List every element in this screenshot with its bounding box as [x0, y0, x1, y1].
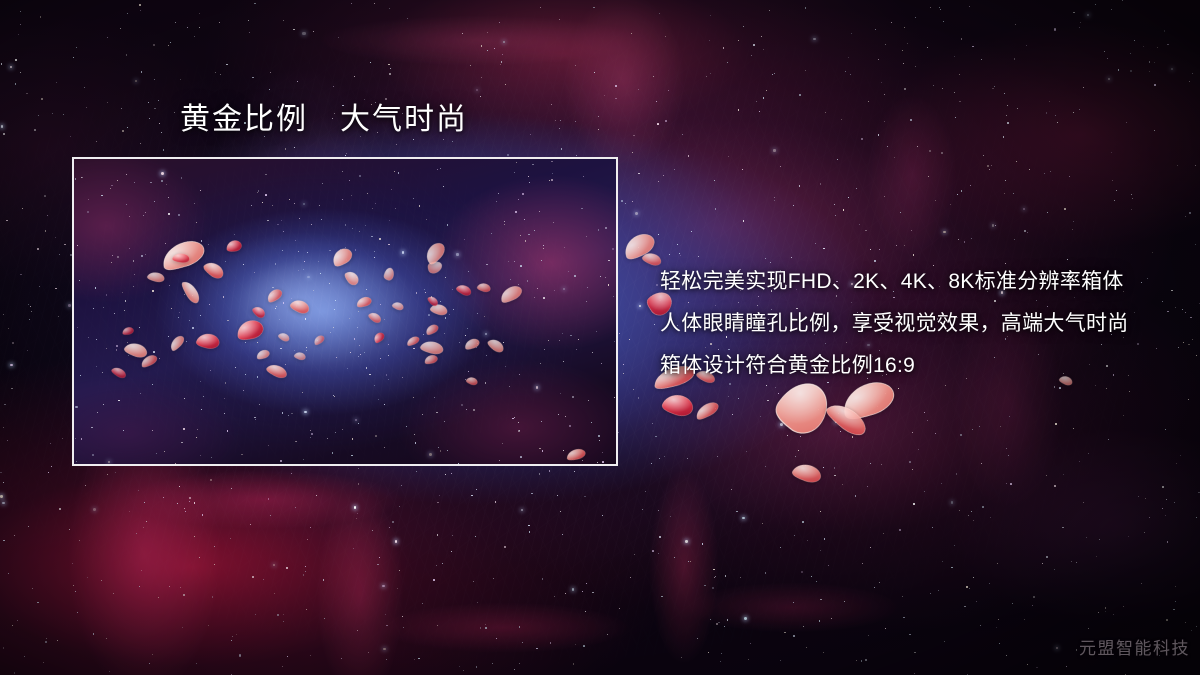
star — [107, 37, 108, 38]
star — [127, 127, 128, 128]
star — [795, 456, 796, 457]
star — [1166, 499, 1167, 500]
star — [15, 83, 16, 84]
star — [856, 660, 857, 661]
star — [68, 304, 71, 307]
star — [899, 529, 900, 530]
star — [803, 626, 804, 627]
star — [480, 96, 481, 97]
star — [437, 502, 438, 503]
star — [122, 130, 124, 132]
star — [954, 92, 955, 93]
star — [884, 196, 885, 197]
star — [4, 404, 5, 405]
star — [970, 185, 971, 186]
star — [10, 364, 13, 367]
star — [358, 468, 359, 469]
star — [1, 63, 2, 64]
star — [1183, 342, 1184, 343]
star — [184, 508, 185, 509]
star — [153, 44, 155, 46]
star — [1064, 208, 1066, 210]
star — [43, 662, 44, 663]
star — [903, 63, 904, 64]
star — [989, 169, 990, 170]
star — [499, 22, 500, 23]
star — [912, 469, 913, 470]
star — [1162, 486, 1163, 487]
star — [805, 70, 806, 71]
star — [20, 24, 21, 25]
star — [727, 62, 728, 63]
star — [62, 438, 63, 439]
star — [503, 41, 506, 44]
star — [379, 557, 380, 558]
star — [536, 648, 537, 649]
star — [762, 523, 763, 524]
star — [710, 73, 711, 74]
star — [12, 625, 13, 626]
star — [1190, 317, 1191, 318]
star — [714, 577, 715, 578]
star — [623, 373, 624, 374]
star — [392, 521, 393, 522]
star — [146, 521, 147, 522]
star — [38, 115, 39, 116]
star — [1131, 209, 1132, 210]
star — [459, 666, 460, 667]
star — [41, 98, 42, 99]
star — [3, 647, 4, 648]
star — [1114, 200, 1115, 201]
star — [659, 458, 660, 459]
star — [1083, 502, 1084, 503]
star — [550, 642, 551, 643]
star — [657, 123, 659, 125]
star — [383, 648, 385, 650]
star — [451, 551, 452, 552]
star — [1005, 180, 1006, 181]
star — [141, 71, 142, 72]
star — [407, 18, 408, 19]
star — [57, 640, 58, 641]
star — [835, 421, 837, 423]
star — [77, 612, 78, 613]
star — [900, 212, 901, 213]
star — [917, 146, 918, 147]
star — [690, 561, 691, 562]
star — [1055, 423, 1056, 424]
star — [179, 486, 180, 487]
star — [1006, 483, 1007, 484]
star — [307, 539, 308, 540]
star — [2, 502, 4, 504]
star — [629, 339, 630, 340]
star — [169, 586, 170, 587]
star — [28, 526, 29, 527]
star — [385, 614, 386, 615]
star — [1175, 601, 1176, 602]
star — [877, 406, 878, 407]
star — [1149, 71, 1150, 72]
star — [389, 527, 390, 528]
star — [800, 436, 801, 437]
star — [554, 596, 555, 597]
star — [1149, 517, 1150, 518]
star — [462, 33, 463, 34]
star — [494, 48, 495, 49]
star — [530, 134, 531, 135]
star — [1088, 628, 1089, 629]
star — [388, 64, 390, 66]
star — [562, 534, 563, 535]
star — [37, 248, 39, 250]
star — [990, 517, 991, 518]
star — [481, 45, 483, 47]
star — [740, 577, 741, 578]
star — [30, 306, 31, 307]
star — [254, 3, 255, 4]
star — [386, 625, 387, 626]
star — [868, 101, 869, 102]
star — [346, 153, 347, 154]
star — [774, 197, 775, 198]
star — [961, 38, 962, 39]
star — [84, 87, 85, 88]
star — [709, 40, 710, 41]
star — [859, 224, 860, 225]
star — [708, 652, 709, 653]
star — [1138, 496, 1139, 497]
star — [868, 635, 869, 636]
star — [11, 388, 12, 389]
star — [1113, 614, 1114, 615]
star — [1111, 152, 1112, 153]
star — [1134, 40, 1135, 41]
star — [0, 472, 1, 473]
star — [414, 659, 415, 660]
star — [602, 515, 603, 516]
star — [389, 8, 390, 9]
star — [542, 578, 543, 579]
star — [744, 617, 747, 620]
star — [638, 397, 639, 398]
star — [48, 472, 49, 473]
star — [236, 634, 237, 635]
star — [763, 97, 765, 99]
star — [1006, 655, 1007, 656]
star — [3, 540, 4, 541]
star — [969, 6, 970, 7]
star — [879, 582, 880, 583]
star — [918, 449, 919, 450]
star — [802, 521, 804, 523]
star — [645, 491, 646, 492]
star — [983, 155, 984, 156]
star — [658, 234, 659, 235]
star — [63, 114, 64, 115]
star — [593, 7, 595, 9]
star — [231, 488, 232, 489]
star — [583, 645, 585, 647]
star — [403, 627, 404, 628]
star — [1098, 612, 1099, 613]
star — [413, 139, 414, 140]
star — [979, 426, 980, 427]
star — [250, 524, 251, 525]
star — [995, 225, 996, 226]
star — [767, 400, 768, 401]
star — [656, 101, 657, 102]
star — [715, 208, 716, 209]
star — [909, 634, 910, 635]
star — [158, 597, 159, 598]
star — [39, 286, 40, 287]
star — [140, 10, 141, 11]
star — [1177, 165, 1178, 166]
star — [907, 43, 908, 44]
star — [50, 443, 51, 444]
star — [964, 241, 966, 243]
star — [436, 565, 437, 566]
star — [704, 585, 705, 586]
star — [149, 663, 150, 664]
star — [884, 121, 885, 122]
star — [1079, 27, 1080, 28]
star — [501, 61, 502, 62]
star — [594, 72, 595, 73]
star — [973, 520, 974, 521]
star — [743, 220, 744, 221]
star — [731, 489, 732, 490]
star — [1057, 122, 1058, 123]
star — [263, 579, 264, 580]
star — [52, 113, 53, 114]
star — [364, 99, 365, 100]
star — [874, 587, 875, 588]
star — [1106, 388, 1107, 389]
star — [199, 557, 200, 558]
star — [718, 622, 719, 623]
star — [855, 495, 856, 496]
star — [685, 540, 687, 542]
star — [586, 583, 587, 584]
star — [639, 305, 641, 307]
star — [914, 652, 915, 653]
star — [746, 451, 747, 452]
star — [969, 588, 970, 589]
star — [738, 109, 739, 110]
star — [774, 73, 775, 74]
star — [976, 601, 977, 602]
star — [120, 28, 121, 29]
star — [93, 508, 96, 511]
star — [951, 567, 952, 568]
star — [774, 200, 775, 201]
star — [913, 254, 914, 255]
star — [773, 149, 775, 151]
star — [252, 576, 254, 578]
panel-nebula-wisps — [74, 159, 616, 464]
star — [442, 563, 443, 564]
star — [759, 111, 760, 112]
star — [680, 255, 681, 256]
petal — [692, 398, 721, 422]
star — [654, 324, 655, 325]
star — [382, 585, 384, 587]
petal — [660, 390, 696, 419]
star — [1164, 30, 1166, 32]
star — [840, 431, 841, 432]
star — [966, 586, 967, 587]
star — [286, 567, 287, 568]
star — [189, 501, 190, 502]
star — [37, 602, 39, 604]
star — [522, 642, 523, 643]
star — [1062, 527, 1063, 528]
star — [680, 396, 681, 397]
star — [69, 529, 70, 530]
star — [1105, 607, 1106, 608]
star — [787, 435, 788, 436]
star — [738, 40, 739, 41]
description-line-2: 人体眼睛瞳孔比例，享受视觉效果，高端大气时尚 — [660, 303, 1180, 345]
star — [163, 149, 164, 150]
star — [385, 98, 387, 100]
star — [659, 13, 660, 14]
star — [1198, 492, 1199, 493]
star — [799, 185, 800, 186]
star — [28, 304, 29, 305]
star — [1069, 176, 1070, 177]
star — [0, 495, 2, 497]
star — [51, 466, 52, 467]
star — [390, 68, 391, 69]
feature-description: 轻松完美实现FHD、2K、4K、8K标准分辨率箱体 人体眼睛瞳孔比例，享受视觉效… — [660, 261, 1180, 387]
star — [214, 546, 215, 547]
star — [1132, 198, 1133, 199]
star — [1007, 105, 1008, 106]
star — [519, 626, 521, 628]
star — [557, 495, 558, 496]
star — [818, 409, 819, 410]
star — [852, 436, 854, 438]
star — [638, 173, 639, 174]
star — [784, 632, 785, 633]
star — [40, 16, 41, 17]
star — [401, 485, 402, 486]
star — [3, 314, 4, 315]
star — [669, 254, 670, 255]
star — [766, 90, 767, 91]
star — [370, 62, 371, 63]
star — [811, 576, 812, 577]
star — [632, 152, 633, 153]
star — [199, 27, 200, 28]
star — [1107, 58, 1108, 59]
star — [27, 350, 28, 351]
star — [801, 571, 803, 573]
star — [912, 432, 913, 433]
star — [437, 625, 438, 626]
star — [177, 503, 178, 504]
star — [140, 143, 141, 144]
star — [879, 249, 880, 250]
star — [374, 3, 375, 4]
star — [761, 36, 762, 37]
star — [862, 563, 863, 564]
star — [1076, 562, 1077, 563]
star — [885, 628, 886, 629]
star — [848, 57, 849, 58]
star — [1165, 429, 1166, 430]
star — [642, 509, 643, 510]
star — [841, 119, 842, 120]
star — [159, 123, 160, 124]
star — [930, 7, 931, 8]
star — [635, 212, 638, 215]
star — [713, 569, 714, 570]
star — [1073, 428, 1074, 429]
star — [109, 671, 110, 672]
star — [194, 536, 195, 537]
star — [395, 540, 397, 542]
star — [632, 201, 633, 202]
star — [710, 15, 711, 16]
star — [1096, 556, 1097, 557]
star — [982, 506, 983, 507]
star — [451, 473, 452, 474]
star — [1076, 649, 1077, 650]
star — [1152, 252, 1153, 253]
star — [1036, 667, 1037, 668]
star — [58, 316, 59, 317]
star — [619, 333, 620, 334]
star — [793, 602, 794, 603]
star — [1004, 93, 1005, 94]
star — [1125, 674, 1126, 675]
star — [215, 72, 216, 73]
star — [1166, 619, 1168, 621]
star — [1154, 62, 1155, 63]
star — [565, 593, 566, 594]
star — [487, 32, 488, 33]
star — [136, 533, 137, 534]
star — [1157, 47, 1159, 49]
star — [306, 609, 307, 610]
description-line-1: 轻松完美实现FHD、2K、4K、8K标准分辨率箱体 — [660, 261, 1180, 303]
star — [904, 27, 905, 28]
star — [658, 553, 659, 554]
star — [656, 284, 658, 286]
star — [297, 81, 298, 82]
star — [1141, 583, 1142, 584]
star — [85, 485, 86, 486]
star — [389, 73, 390, 74]
description-line-3: 箱体设计符合黄金比例16:9 — [660, 345, 1180, 387]
star — [45, 641, 46, 642]
star — [834, 475, 835, 476]
star — [706, 76, 707, 77]
star — [843, 209, 844, 210]
star — [560, 120, 561, 121]
star — [658, 181, 659, 182]
star — [141, 570, 142, 571]
star — [1116, 190, 1117, 191]
star — [1046, 556, 1048, 558]
star — [1182, 309, 1183, 310]
star — [834, 467, 835, 468]
